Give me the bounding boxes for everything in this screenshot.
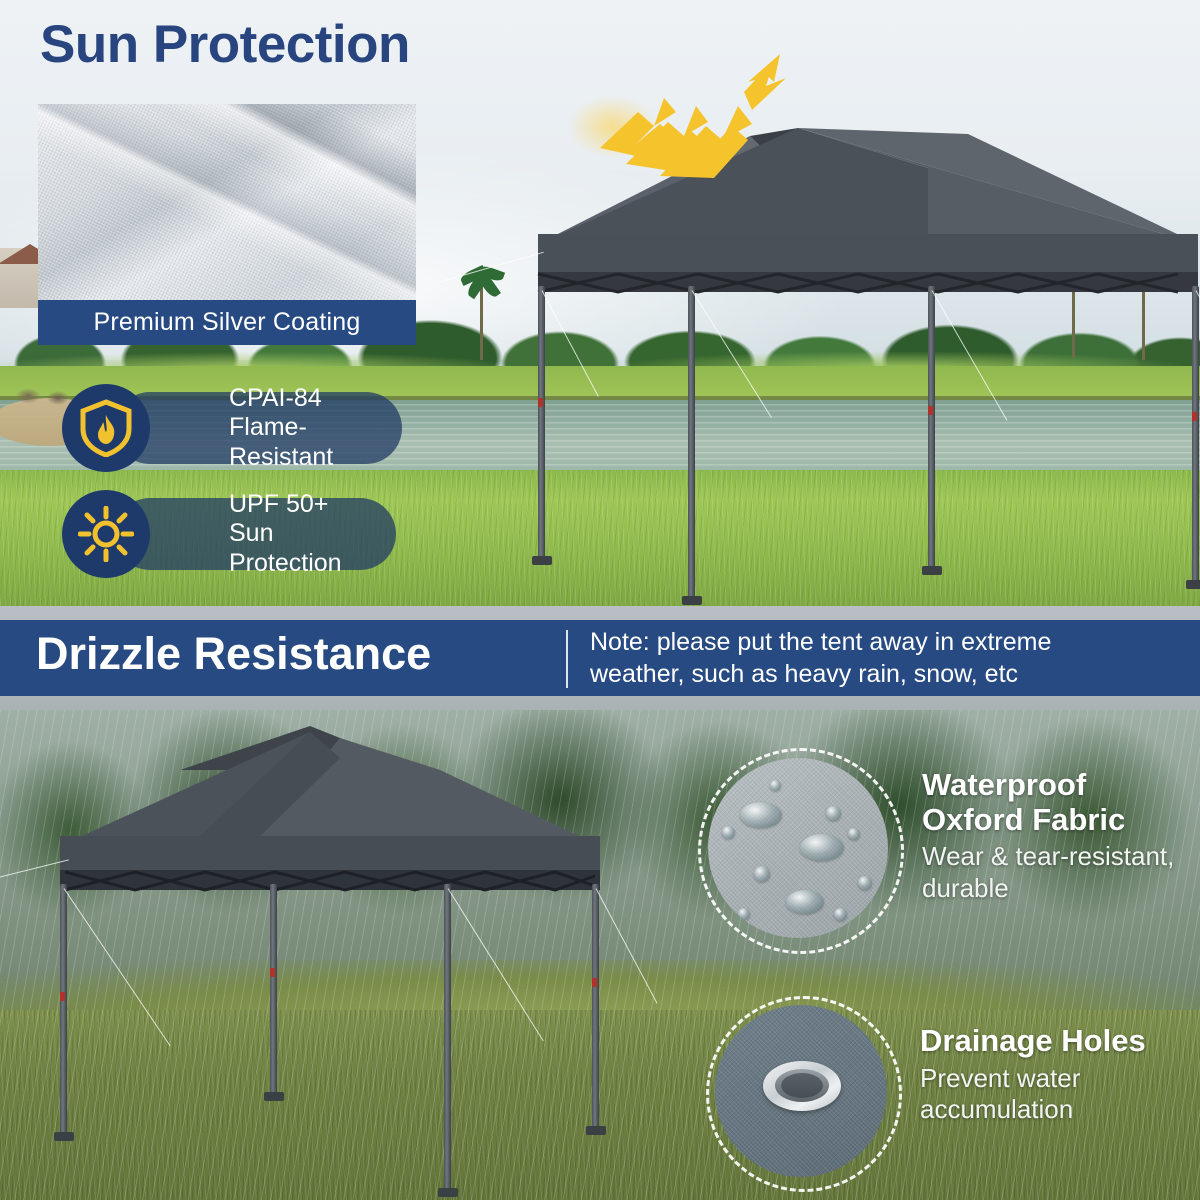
leg-lock-clip — [60, 992, 65, 1001]
badge-line-2: Protection — [229, 549, 370, 579]
water-droplet — [754, 866, 770, 882]
banner-divider — [566, 630, 568, 688]
badge-pill-body: UPF 50+ Sun Protection — [114, 498, 396, 570]
leg-lock-clip — [592, 978, 597, 987]
banner-note-line-1: Note: please put the tent away in extrem… — [590, 626, 1186, 658]
leg-lock-clip — [1192, 412, 1197, 421]
tent-leg — [592, 884, 599, 1128]
water-droplet — [770, 780, 781, 791]
callout-subtitle: Prevent water accumulation — [920, 1063, 1200, 1125]
tent-foot — [54, 1132, 74, 1141]
tent-leg — [444, 884, 451, 1190]
page-title: Sun Protection — [40, 14, 410, 75]
silver-coating-swatch — [38, 104, 416, 300]
badge-text: CPAI-84 Flame-Resistant — [114, 384, 402, 473]
leg-lock-clip — [928, 406, 933, 415]
callout-sub-line-2: durable — [922, 873, 1200, 904]
callout-title: Drainage Holes — [920, 1024, 1200, 1059]
callout-title-line-2: Oxford Fabric — [922, 803, 1200, 838]
callout-sub-line-2: accumulation — [920, 1094, 1200, 1125]
callout-sub-line-1: Prevent water — [920, 1063, 1200, 1094]
badge-line-1: CPAI-84 — [229, 384, 376, 414]
tent-leg — [60, 884, 67, 1134]
tent-leg — [928, 286, 935, 568]
tent-leg — [688, 286, 695, 598]
swatch-caption-bar: Premium Silver Coating — [38, 300, 416, 345]
water-droplet — [786, 890, 824, 914]
water-droplet — [848, 828, 860, 840]
water-droplet — [826, 806, 841, 821]
callout-drainage-holes: Drainage Holes Prevent water accumulatio… — [706, 996, 1196, 1196]
callout-sub-line-1: Wear & tear-resistant, — [922, 841, 1200, 872]
metal-grommet-drain-hole-image — [715, 1005, 887, 1177]
banner-note: Note: please put the tent away in extrem… — [590, 626, 1186, 690]
banner-note-line-2: weather, such as heavy rain, snow, etc — [590, 658, 1186, 690]
leg-lock-clip — [270, 968, 275, 977]
tent-leg — [270, 884, 277, 1094]
tent-foot — [264, 1092, 284, 1101]
callout-subtitle: Wear & tear-resistant, durable — [922, 841, 1200, 903]
water-droplets-on-fabric-image — [708, 758, 888, 938]
badge-pill-body: CPAI-84 Flame-Resistant — [114, 392, 402, 464]
canopy-roof-rainy — [10, 718, 650, 1118]
sun-icon — [62, 490, 150, 578]
swatch-caption-text: Premium Silver Coating — [94, 308, 361, 337]
tent-leg — [538, 286, 545, 558]
callout-waterproof-fabric: Waterproof Oxford Fabric Wear & tear-res… — [698, 748, 1198, 958]
tent-foot — [532, 556, 552, 565]
badge-text: UPF 50+ Sun Protection — [114, 490, 396, 579]
badge-flame-resistant: CPAI-84 Flame-Resistant — [62, 392, 402, 464]
grommet-hole — [781, 1073, 823, 1098]
tent-foot — [922, 566, 942, 575]
canopy-tent-rainy — [10, 718, 670, 1200]
drizzle-banner: Drizzle Resistance Note: please put the … — [0, 606, 1200, 710]
tent-foot — [682, 596, 702, 605]
badge-line-2: Flame-Resistant — [229, 413, 376, 472]
water-droplet — [800, 834, 844, 861]
water-droplet — [834, 908, 847, 921]
badge-upf-sun-protection: UPF 50+ Sun Protection — [62, 498, 402, 570]
callout-title-line-1: Drainage Holes — [920, 1024, 1200, 1059]
callout-title-line-1: Waterproof — [922, 768, 1200, 803]
water-droplet — [858, 876, 872, 890]
callout-title: Waterproof Oxford Fabric — [922, 768, 1200, 837]
banner-bar: Drizzle Resistance Note: please put the … — [0, 620, 1200, 696]
banner-title: Drizzle Resistance — [36, 628, 431, 680]
flame-shield-icon — [62, 384, 150, 472]
water-droplet — [722, 826, 735, 839]
sun-rays-deflected-icon — [598, 52, 788, 182]
tent-foot — [586, 1126, 606, 1135]
badge-line-1: UPF 50+ Sun — [229, 490, 370, 549]
water-droplet — [738, 908, 750, 920]
product-infographic: Sun Protection Premium Silver Coating CP… — [0, 0, 1200, 1200]
tent-leg — [1192, 286, 1199, 582]
leg-lock-clip — [538, 398, 543, 407]
water-droplet — [740, 802, 782, 828]
tent-foot — [438, 1188, 458, 1197]
sun-protection-panel: Sun Protection Premium Silver Coating CP… — [0, 0, 1200, 606]
tent-foot — [1186, 580, 1200, 589]
